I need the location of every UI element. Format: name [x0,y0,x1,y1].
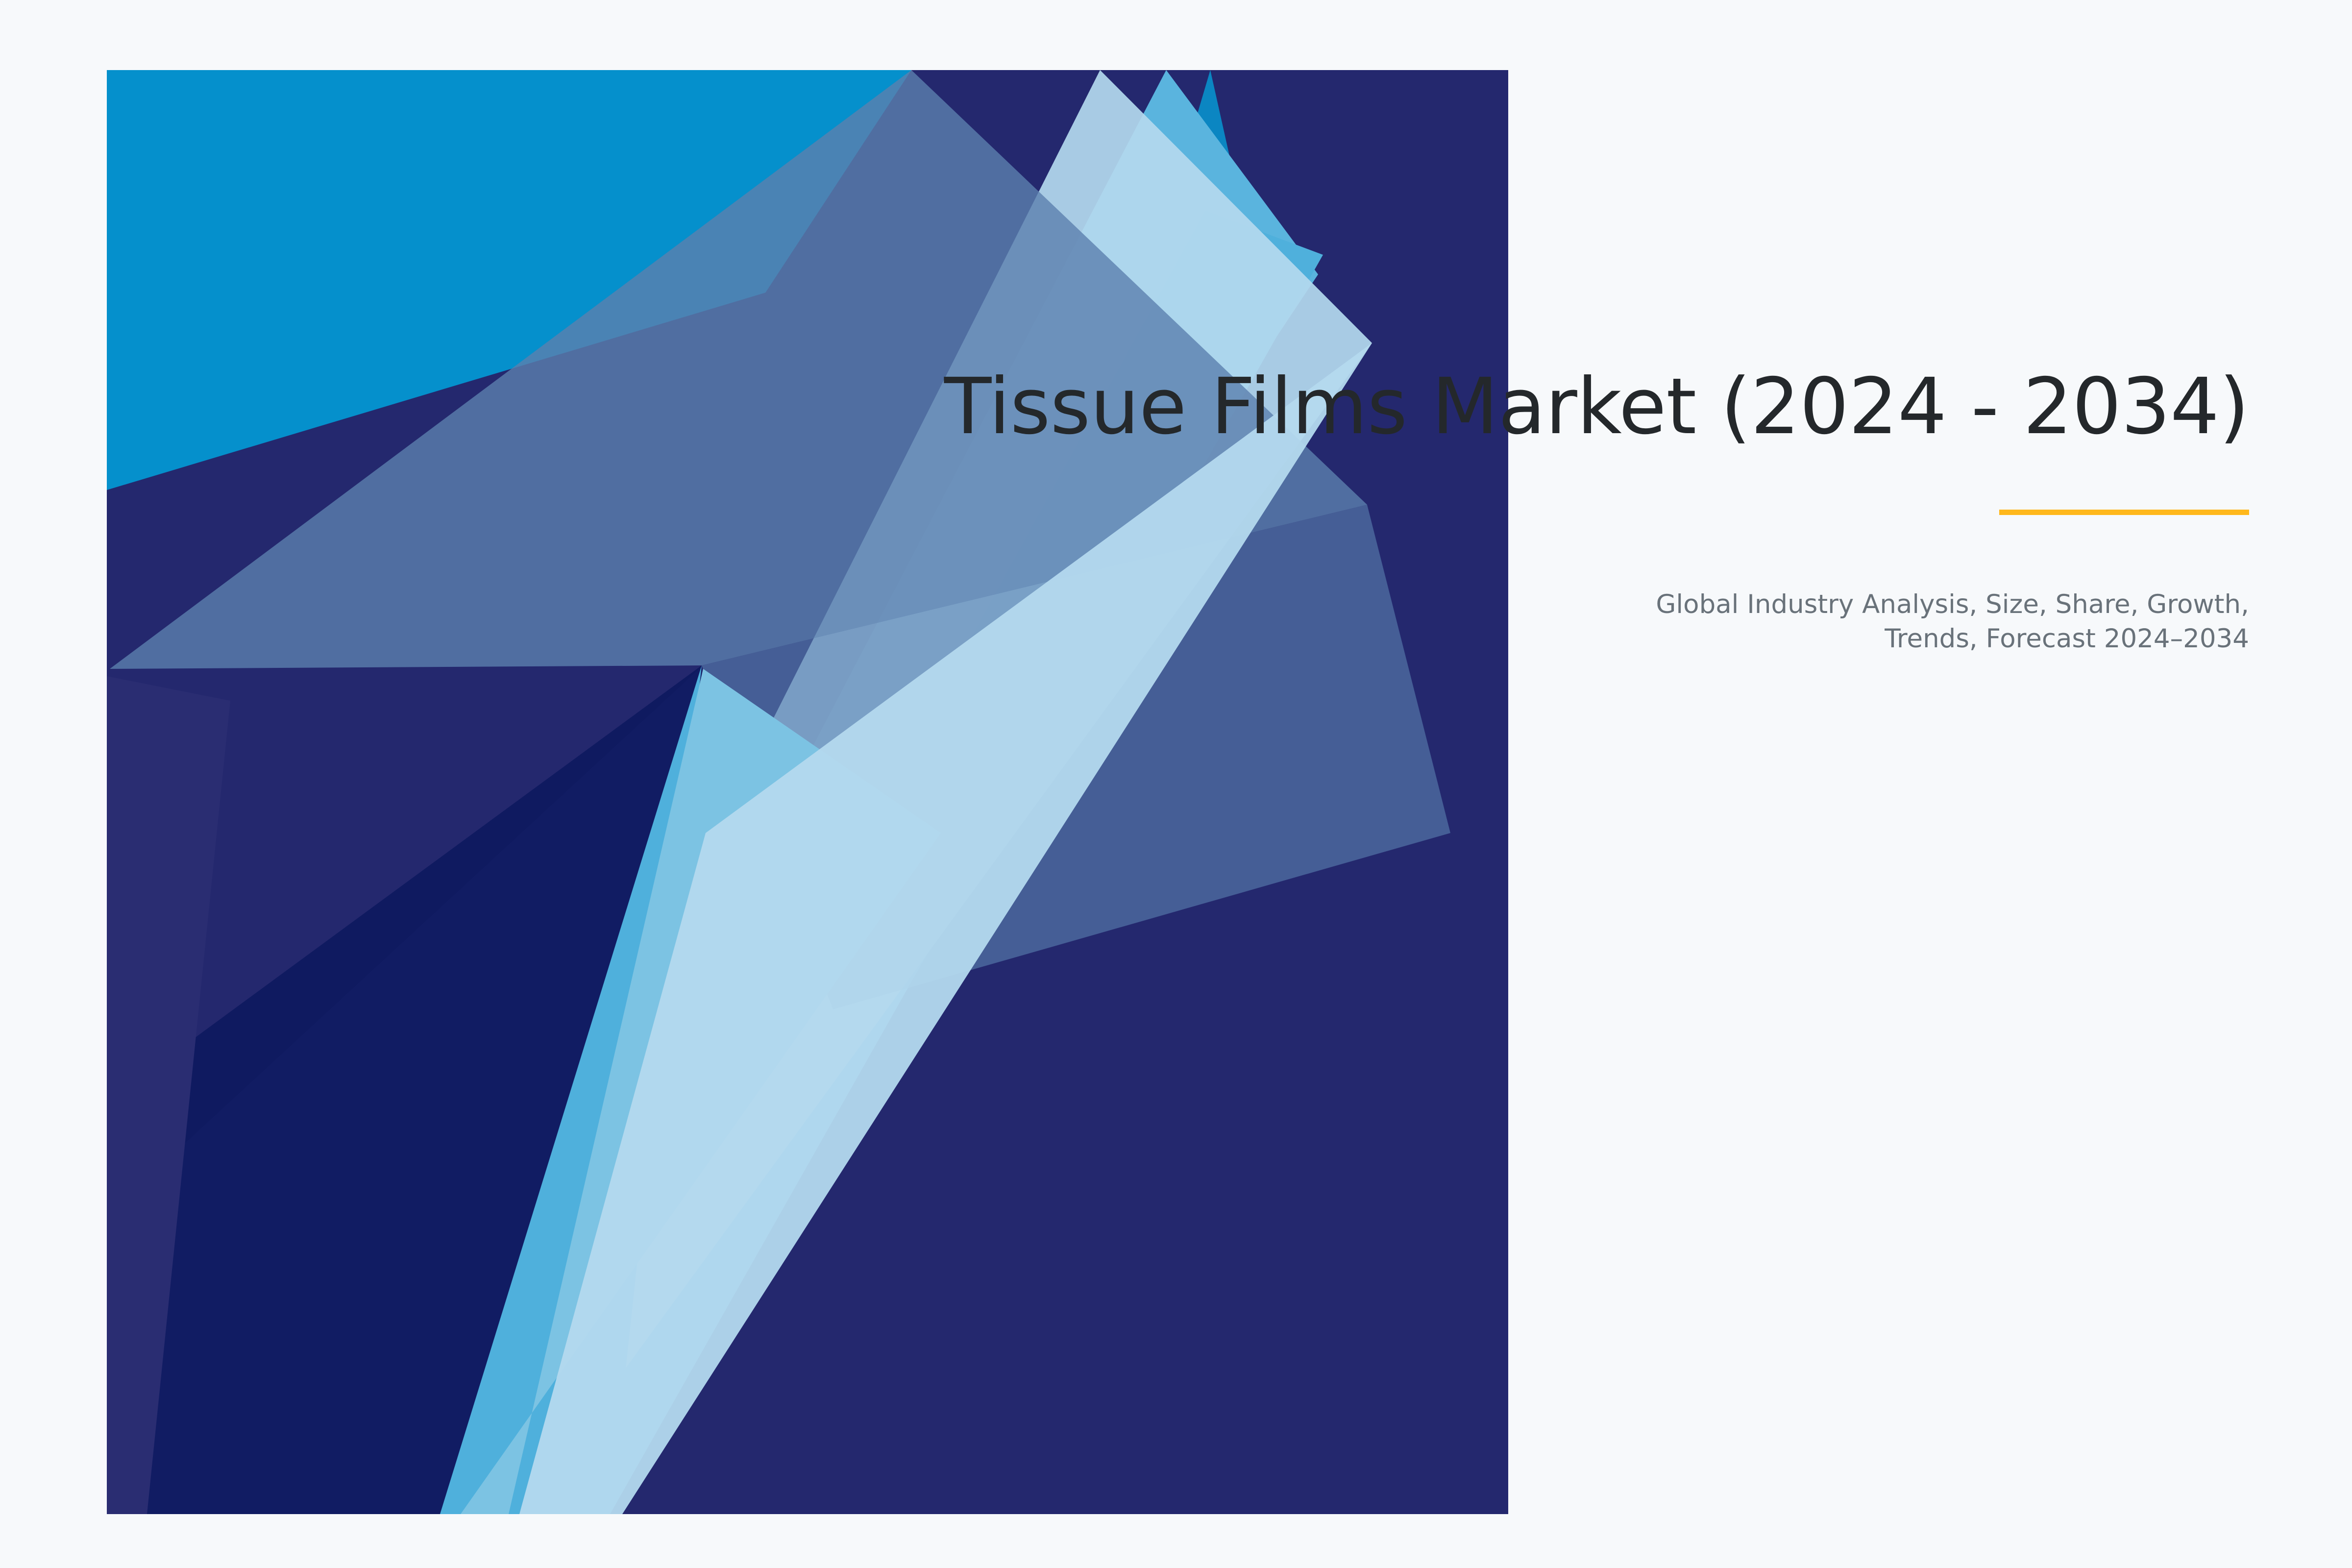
accent-rule-wrapper [931,510,2249,515]
page-subtitle: Global Industry Analysis, Size, Share, G… [1612,588,2249,657]
title-slide: Tissue Films Market (2024 - 2034) Global… [0,0,2352,1568]
page-title: Tissue Films Market (2024 - 2034) [931,363,2249,452]
title-text-block: Tissue Films Market (2024 - 2034) Global… [931,363,2249,657]
accent-rule [1999,510,2249,515]
abstract-geometric-banner [0,0,2352,1568]
